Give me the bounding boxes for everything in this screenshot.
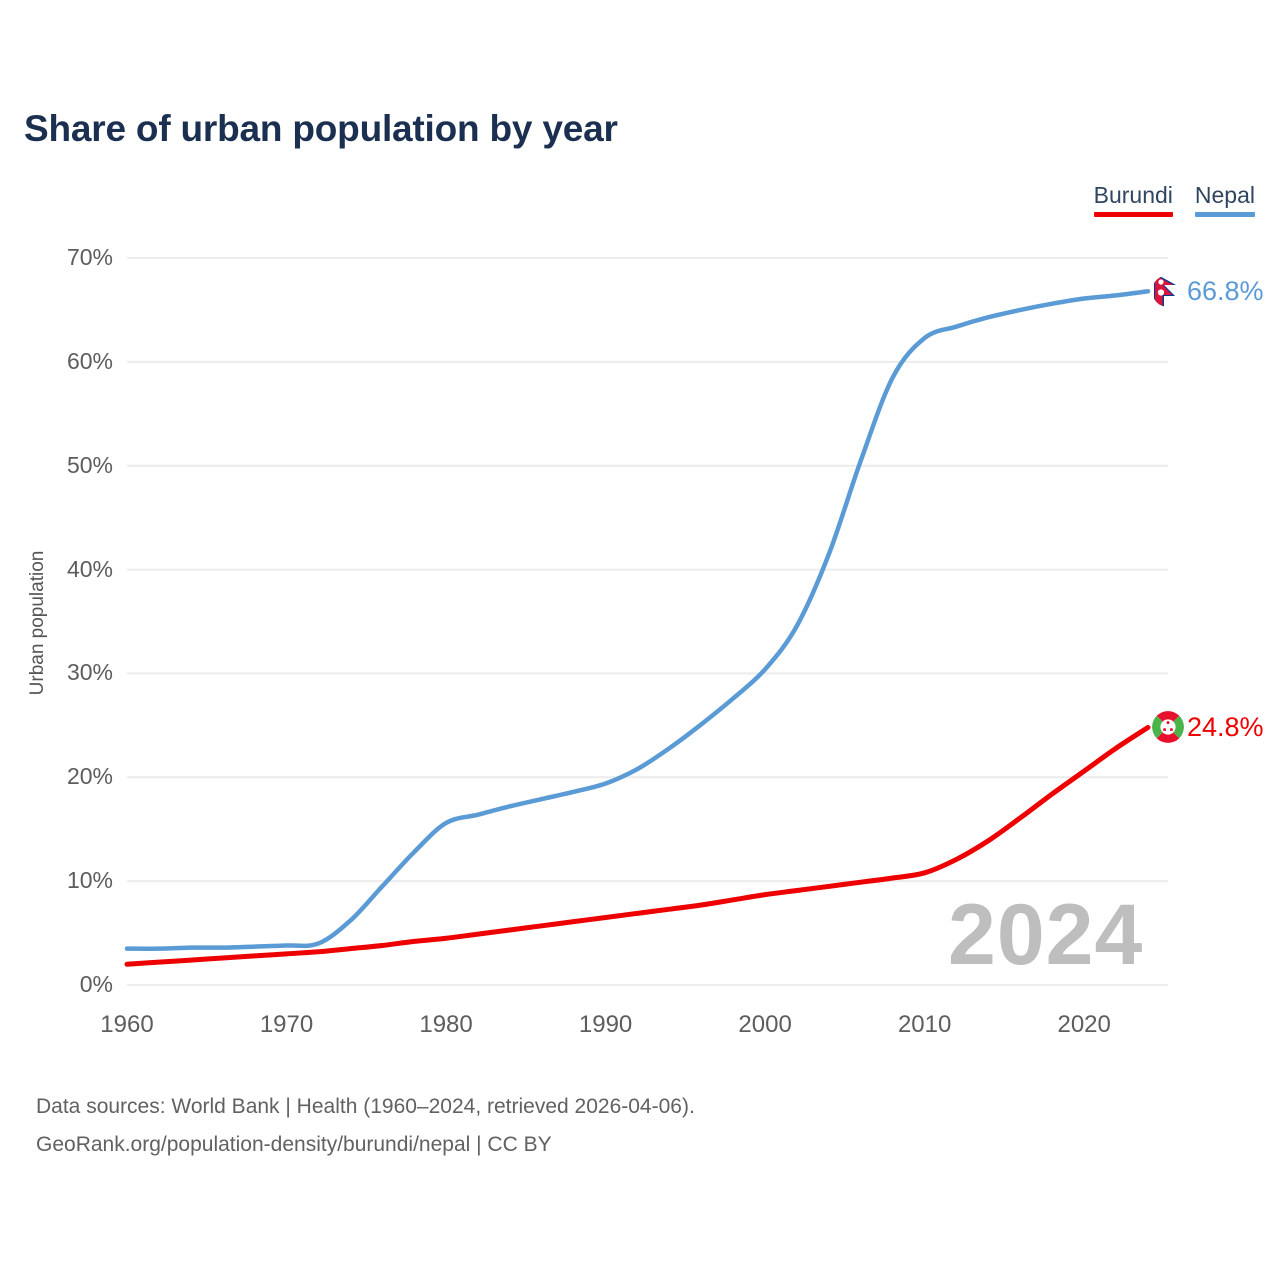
- y-tick-label: 10%: [23, 867, 113, 894]
- y-tick-label: 30%: [23, 659, 113, 686]
- y-tick-label: 0%: [23, 971, 113, 998]
- burundi-flag-icon: [1152, 711, 1184, 743]
- y-tick-label: 70%: [23, 244, 113, 271]
- endpoint-value-nepal: 66.8%: [1187, 276, 1264, 306]
- y-tick-label: 60%: [23, 348, 113, 375]
- footer-attribution: Data sources: World Bank | Health (1960–…: [36, 1088, 695, 1164]
- x-tick-label: 1990: [546, 1011, 666, 1039]
- x-tick-label: 1970: [227, 1011, 347, 1039]
- x-tick-label: 2010: [865, 1011, 985, 1039]
- x-tick-label: 1960: [67, 1011, 187, 1039]
- endpoint-label-nepal: 66.8%: [1152, 275, 1264, 307]
- y-tick-label: 20%: [23, 763, 113, 790]
- year-watermark: 2024: [948, 892, 1143, 978]
- gridlines: [127, 258, 1168, 985]
- series-lines: [127, 291, 1148, 964]
- y-tick-label: 50%: [23, 452, 113, 479]
- footer-line-credit[interactable]: GeoRank.org/population-density/burundi/n…: [36, 1126, 695, 1164]
- chart-container: Share of urban population by year Burund…: [0, 0, 1280, 1280]
- endpoint-value-burundi: 24.8%: [1187, 712, 1264, 742]
- series-line-nepal: [127, 291, 1148, 948]
- x-tick-label: 1980: [386, 1011, 506, 1039]
- footer-line-sources: Data sources: World Bank | Health (1960–…: [36, 1088, 695, 1126]
- nepal-flag-icon: [1152, 275, 1184, 307]
- x-tick-label: 2000: [705, 1011, 825, 1039]
- y-axis-title: Urban population: [27, 523, 49, 723]
- endpoint-label-burundi: 24.8%: [1152, 711, 1264, 743]
- y-tick-label: 40%: [23, 556, 113, 583]
- x-tick-label: 2020: [1024, 1011, 1144, 1039]
